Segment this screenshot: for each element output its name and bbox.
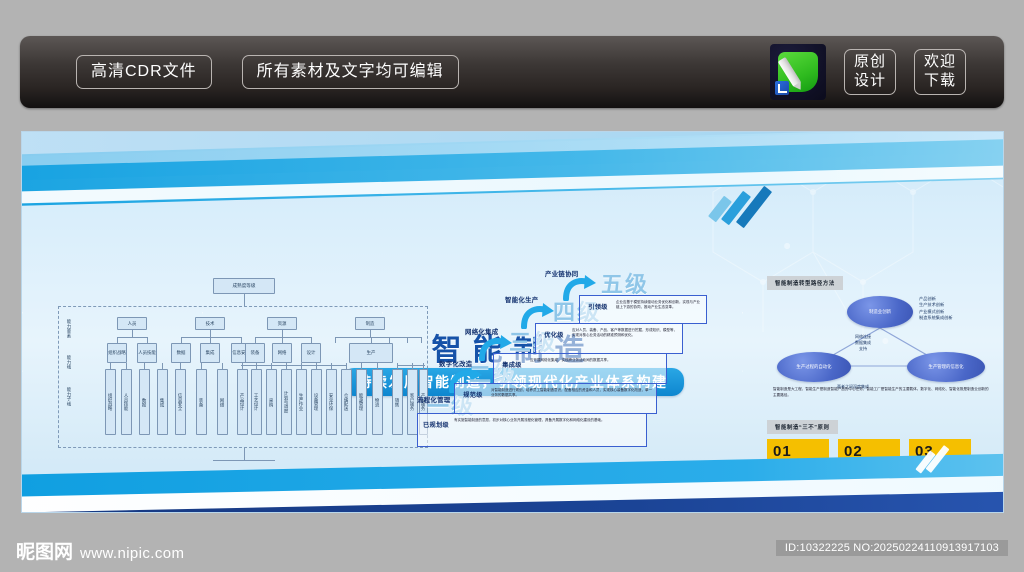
connector: [271, 363, 272, 369]
bottom-right-diagonal-accent: [873, 444, 943, 474]
level-name-1: 已规划级: [418, 414, 454, 429]
connector: [282, 330, 283, 337]
domain-node: 网络: [272, 343, 292, 363]
toolbar-right-group: 原创 设计 欢迎 下载: [770, 44, 1004, 100]
level-bar-3: 集成级 应开展网络化集成，实现跨业务活动间的数据共享。: [493, 353, 667, 384]
level-desc-2: 对智能制造进行规划，培养员工智能制造意识，配备相应的资金和人员，实现核心装备数字…: [491, 384, 656, 399]
cdr-editor-icon: [770, 44, 826, 100]
connector: [144, 363, 145, 369]
high-def-cdr-file-button[interactable]: 高清CDR文件: [76, 55, 212, 89]
subdomain-node: 生产作业: [296, 369, 307, 435]
connector: [377, 363, 378, 369]
transformation-triangle-diagram: 制造业创新 生产过程的自动化 生产管理的信息化 产品创新 生产技术创新 产业模式…: [767, 290, 992, 400]
connector: [181, 337, 241, 338]
connector: [361, 363, 362, 369]
connector: [335, 337, 336, 343]
subdomain-node: 人员技能: [121, 369, 132, 435]
level-desc-1: 有实施智能制造的意愿，初步对核心业务开展流程化管理，具备开展数字化和网络化建设的…: [454, 414, 646, 423]
connector: [407, 337, 408, 343]
shortcut-arrow-badge-icon: [775, 81, 789, 95]
subdomain-node: 工艺设计: [251, 369, 262, 435]
original-design-button[interactable]: 原创 设计: [844, 49, 896, 95]
connector: [316, 363, 317, 369]
connector: [162, 363, 163, 369]
subdomain-node: 产品设计: [237, 369, 248, 435]
domain-node: 组织战略: [107, 343, 127, 363]
connector: [271, 365, 347, 366]
connector: [370, 330, 371, 337]
connector: [331, 363, 332, 369]
domain-node: 装备: [245, 343, 265, 363]
asset-id-badge: ID:10322225 NO:20250224110913917103: [776, 540, 1008, 556]
connector: [301, 363, 302, 369]
level-desc-4: 应对人员、装备、产品、客户等数据进行挖掘，形成知识、模型等，实现对核心业务活动的…: [572, 324, 682, 339]
original-design-line2: 设计: [854, 72, 886, 91]
row-label-capability-element: 能力要素: [62, 319, 72, 339]
connector: [397, 363, 398, 369]
subdomain-node: 设备管理: [311, 369, 322, 435]
connector: [335, 337, 421, 338]
connector: [241, 365, 275, 366]
connector: [132, 330, 133, 337]
connector: [201, 363, 202, 369]
path-method-title: 智能制造转型路径方法: [767, 276, 843, 290]
domain-node: 设计: [301, 343, 321, 363]
domain-node: 人员技能: [137, 343, 157, 363]
welcome-download-button[interactable]: 欢迎 下载: [914, 49, 966, 95]
capability-subdomain-chart: 成熟度等级 能力要素 能力域 能力子域 人员 技术 资源 制造: [58, 278, 428, 478]
poster-artwork: 智能制造 持续发展智能制造，引领现代化产业体系构建 成熟度等级 能力要素 能力域…: [21, 131, 1004, 513]
welcome-download-line2: 下载: [924, 72, 956, 91]
connector: [117, 337, 147, 338]
domain-node: 数据: [171, 343, 191, 363]
domain-node: 生产: [349, 343, 393, 363]
connector: [213, 460, 275, 461]
subdomain-node: 集成: [157, 369, 168, 435]
site-footer: 昵图网 www.nipic.com ID:10322225 NO:2025022…: [0, 525, 1024, 572]
level-bar-4: 优化级 应对人员、装备、产品、客户等数据进行挖掘，形成知识、模型等，实现对核心业…: [535, 323, 683, 354]
transformation-path-panel: 智能制造转型路径方法 制造业创新 生产过程的自动化 生产管理的信息化 产品创新 …: [767, 272, 992, 472]
level-desc-3: 应开展网络化集成，实现跨业务活动间的数据共享。: [530, 354, 666, 363]
site-logo[interactable]: 昵图网 www.nipic.com: [16, 537, 184, 564]
note-innovation-list: 产品创新 生产技术创新 产业模式创新 制造系统集成创新: [919, 296, 953, 321]
connector: [412, 363, 413, 369]
logo-mark-text: 昵图网: [16, 537, 73, 564]
connector: [242, 363, 243, 369]
principles-title: 智能制造“三不”原则: [767, 420, 838, 434]
dimension-node: 资源: [267, 317, 297, 330]
subdomain-node: 组织战略: [105, 369, 116, 435]
connector: [286, 363, 287, 369]
logo-url-text: www.nipic.com: [80, 545, 184, 562]
connector: [180, 363, 181, 369]
connector: [244, 294, 245, 306]
maturity-level-node: 成熟度等级: [213, 278, 275, 294]
level-bar-5: 引领级 企业应基于模型持续驱动业务优化和创新，实现与产业链上下游的协同，推动产业…: [579, 295, 707, 324]
connector: [256, 363, 257, 369]
transformation-description: 智能制造是大工程，智能生产是制造智能产品的中心任务，智能工厂是智能生产的主要载体…: [773, 386, 989, 398]
subdomain-node: 采购: [266, 369, 277, 435]
level-name-3: 集成级: [494, 354, 530, 369]
subdomain-node: 物流: [372, 369, 383, 435]
all-editable-button[interactable]: 所有素材及文字均可编辑: [242, 55, 459, 89]
subdomain-node: 网络: [217, 369, 228, 435]
level-bar-1: 已规划级 有实施智能制造的意愿，初步对核心业务开展流程化管理，具备开展数字化和网…: [417, 413, 647, 447]
level-name-4: 优化级: [536, 324, 572, 339]
ellipse-process-automation: 生产过程的自动化: [777, 352, 851, 382]
connector: [222, 363, 223, 369]
connector: [126, 363, 127, 369]
subdomain-node: 装备: [196, 369, 207, 435]
subdomain-node: 计划与调度: [281, 369, 292, 435]
connector: [255, 337, 311, 338]
dimension-node: 人员: [117, 317, 147, 330]
domain-node: 集成: [200, 343, 220, 363]
dimension-node: 技术: [195, 317, 225, 330]
capability-framework-dashed-box: 能力要素 能力域 能力子域 人员 技术 资源 制造: [58, 306, 428, 448]
top-toolbar: 高清CDR文件 所有素材及文字均可编辑 原创 设计 欢迎 下载: [20, 36, 1004, 108]
connector: [110, 363, 111, 369]
note-network-data: 网络连接 数据集成 支持: [855, 334, 871, 352]
subdomain-node: 安全环保: [326, 369, 337, 435]
row-label-capability-domain: 能力域: [62, 355, 72, 370]
connector: [244, 448, 245, 460]
principle-number: 01: [773, 444, 823, 459]
dimension-node: 制造: [355, 317, 385, 330]
level-name-5: 引领级: [580, 296, 616, 311]
row-label-capability-subdomain: 能力子域: [62, 387, 72, 407]
level-desc-5: 企业应基于模型持续驱动业务优化和创新，实现与产业链上下游的协同，推动产业生态变革…: [616, 296, 706, 311]
level-bar-2: 规范级 对智能制造进行规划，培养员工智能制造意识，配备相应的资金和人员，实现核心…: [454, 383, 657, 414]
connector: [210, 330, 211, 337]
ellipse-manufacturing-innovation: 制造业创新: [847, 296, 913, 328]
original-design-line1: 原创: [854, 53, 886, 72]
top-right-diagonal-accent: [643, 184, 763, 218]
subdomain-node: 销售: [392, 369, 403, 435]
maturity-levels-staircase: 流程化管理 数字化改造 网络化集成 智能化生产 产业链协同 一级 二级 三级 四…: [417, 267, 732, 462]
connector: [346, 363, 347, 369]
subdomain-node: 信息安全: [175, 369, 186, 435]
subdomain-node: 能源管理: [356, 369, 367, 435]
level-name-2: 规范级: [455, 384, 491, 399]
ellipse-management-informatization: 生产管理的信息化: [907, 352, 985, 382]
subdomain-node: 数据: [139, 369, 150, 435]
subdomain-node: 仓储配送: [341, 369, 352, 435]
welcome-download-line1: 欢迎: [924, 53, 956, 72]
